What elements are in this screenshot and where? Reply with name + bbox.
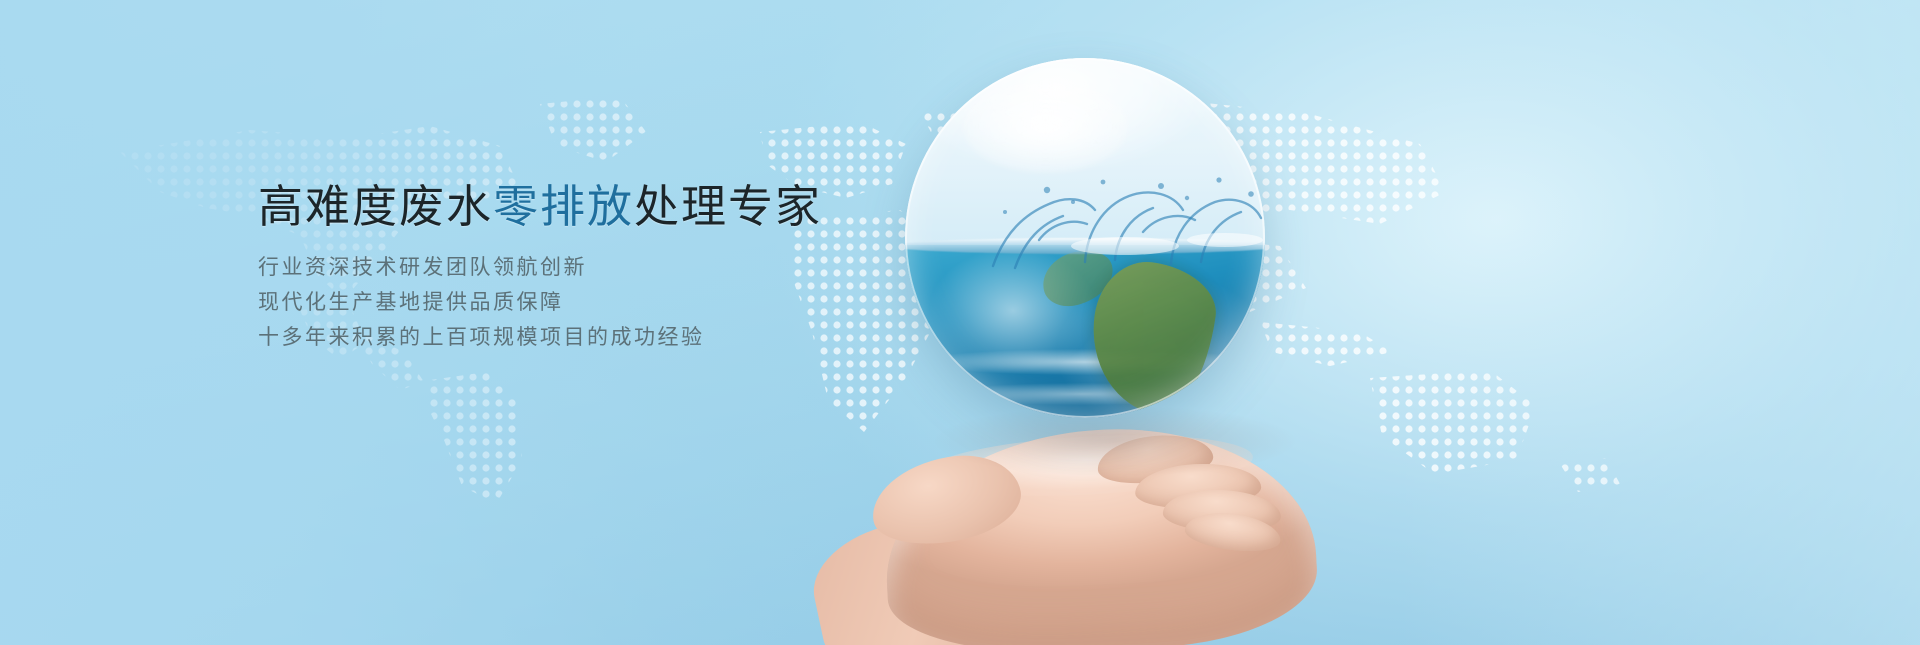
headline-part-1: 高难度废水	[258, 181, 493, 232]
hero-copy: 高难度废水零排放处理专家 行业资深技术研发团队领航创新 现代化生产基地提供品质保…	[258, 178, 1018, 355]
hero-banner: 高难度废水零排放处理专家 行业资深技术研发团队领航创新 现代化生产基地提供品质保…	[0, 0, 1920, 645]
hero-subtitles: 行业资深技术研发团队领航创新 现代化生产基地提供品质保障 十多年来积累的上百项规…	[258, 250, 1018, 355]
subtitle-line-2: 现代化生产基地提供品质保障	[258, 285, 1018, 320]
subtitle-line-3: 十多年来积累的上百项规模项目的成功经验	[258, 320, 1018, 355]
open-palm-hand-illustration	[875, 400, 1345, 645]
subtitle-line-1: 行业资深技术研发团队领航创新	[258, 250, 1018, 285]
headline-part-2: 处理专家	[634, 181, 822, 232]
page-title: 高难度废水零排放处理专家	[258, 178, 1018, 236]
headline-accent: 零排放	[493, 181, 634, 232]
